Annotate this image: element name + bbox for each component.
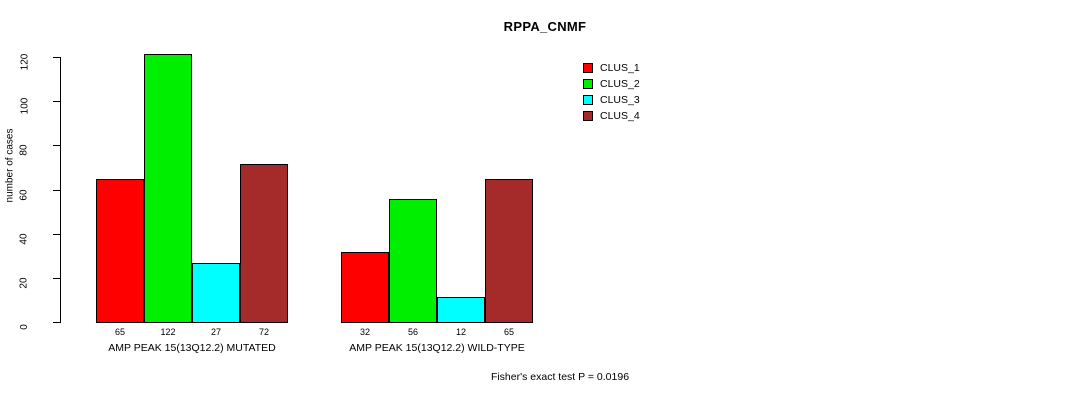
bar-count-label: 56 <box>389 327 437 337</box>
legend-label: CLUS_4 <box>600 110 640 122</box>
legend-swatch-icon <box>583 79 593 89</box>
bar-count-label: 32 <box>341 327 389 337</box>
legend-swatch-icon <box>583 95 593 105</box>
page-title: RPPA_CNMF <box>0 19 1090 34</box>
group-label: AMP PEAK 15(13Q12.2) WILD-TYPE <box>321 342 553 354</box>
bar-count-label: 122 <box>144 327 192 337</box>
bar-count-label: 65 <box>485 327 533 337</box>
bar-count-label: 12 <box>437 327 485 337</box>
legend-label: CLUS_1 <box>600 62 640 74</box>
bar-count-label: 27 <box>192 327 240 337</box>
chart-canvas: RPPA_CNMF 020406080100120 number of case… <box>0 0 1090 400</box>
footer-annotation: Fisher's exact test P = 0.0196 <box>360 371 760 383</box>
legend-item-clus_2[interactable]: CLUS_2 <box>583 76 640 92</box>
bar <box>389 199 437 323</box>
legend-label: CLUS_3 <box>600 94 640 106</box>
bar <box>96 179 144 323</box>
bar <box>192 263 240 323</box>
legend-item-clus_1[interactable]: CLUS_1 <box>583 60 640 76</box>
bar <box>485 179 533 323</box>
legend-item-clus_3[interactable]: CLUS_3 <box>583 92 640 108</box>
bar <box>437 297 485 324</box>
bar <box>144 54 192 323</box>
bar-count-label: 72 <box>240 327 288 337</box>
legend-item-clus_4[interactable]: CLUS_4 <box>583 108 640 124</box>
legend-label: CLUS_2 <box>600 78 640 90</box>
legend: CLUS_1CLUS_2CLUS_3CLUS_4 <box>583 60 640 124</box>
bars-layer <box>0 57 600 323</box>
legend-swatch-icon <box>583 111 593 121</box>
bar <box>341 252 389 323</box>
legend-swatch-icon <box>583 63 593 73</box>
bar <box>240 164 288 323</box>
bar-count-label: 65 <box>96 327 144 337</box>
y-tick-label-text: 0 <box>19 324 31 330</box>
group-label: AMP PEAK 15(13Q12.2) MUTATED <box>76 342 308 354</box>
